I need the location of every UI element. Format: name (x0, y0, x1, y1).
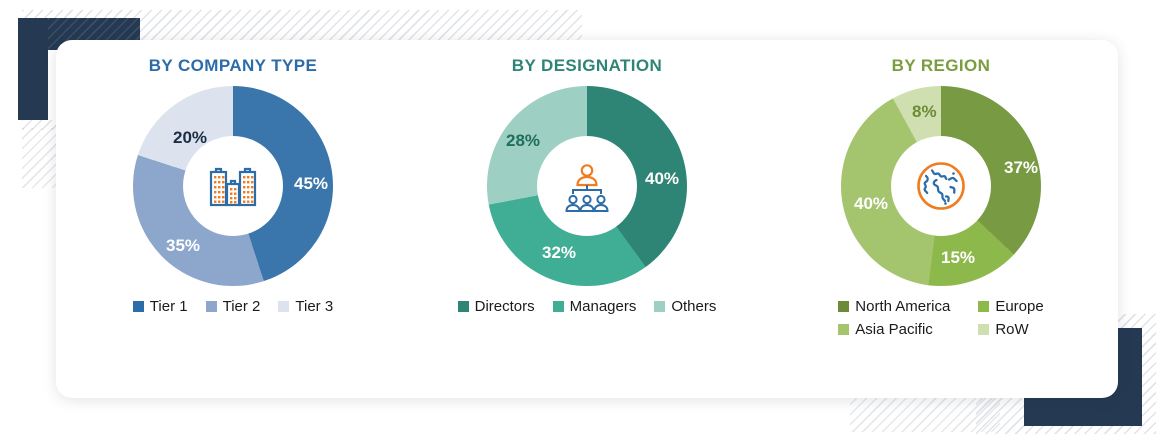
legend-label: Managers (570, 298, 637, 315)
legend-item-europe[interactable]: Europe (978, 298, 1043, 315)
slice-label-tier-2: 35% (166, 236, 200, 256)
panel-region: BY REGION (764, 40, 1118, 398)
charts-card: BY COMPANY TYPE (56, 40, 1118, 398)
slice-label-tier-1: 45% (294, 174, 328, 194)
legend-item-north-america[interactable]: North America (838, 298, 950, 315)
legend-swatch-icon (654, 301, 665, 312)
donut-center-designation (537, 136, 637, 236)
donut-chart-company-type: 45% 35% 20% (128, 86, 338, 286)
legend-swatch-icon (838, 324, 849, 335)
legend-swatch-icon (206, 301, 217, 312)
legend-item-managers[interactable]: Managers (553, 298, 637, 315)
legend-swatch-icon (278, 301, 289, 312)
legend-swatch-icon (458, 301, 469, 312)
legend-item-asia-pacific[interactable]: Asia Pacific (838, 321, 933, 338)
legend-label: Tier 3 (295, 298, 333, 315)
legend-swatch-icon (978, 301, 989, 312)
legend-region: North America Europe Asia Pacific RoW (838, 298, 1043, 338)
org-chart-icon (555, 154, 619, 218)
legend-item-tier-1[interactable]: Tier 1 (133, 298, 188, 315)
slice-label-managers: 32% (542, 243, 576, 263)
legend-item-row[interactable]: RoW (978, 321, 1028, 338)
slice-label-others: 28% (506, 131, 540, 151)
legend-designation: Directors Managers Others (458, 298, 717, 315)
panel-title-designation: BY DESIGNATION (512, 56, 662, 76)
legend-label: Directors (475, 298, 535, 315)
donut-center-company-type (183, 136, 283, 236)
slice-label-europe: 15% (941, 248, 975, 268)
donut-chart-region: 37% 15% 40% 8% (836, 86, 1046, 286)
legend-label: Others (671, 298, 716, 315)
legend-label: Tier 1 (150, 298, 188, 315)
panel-company-type: BY COMPANY TYPE (56, 40, 410, 398)
legend-label: RoW (995, 321, 1028, 338)
legend-swatch-icon (838, 301, 849, 312)
legend-item-directors[interactable]: Directors (458, 298, 535, 315)
slice-label-north-america: 37% (1004, 158, 1038, 178)
donut-chart-designation: 40% 32% 28% (482, 86, 692, 286)
legend-label: North America (855, 298, 950, 315)
legend-label: Tier 2 (223, 298, 261, 315)
legend-item-tier-2[interactable]: Tier 2 (206, 298, 261, 315)
slice-label-tier-3: 20% (173, 128, 207, 148)
legend-label: Europe (995, 298, 1043, 315)
legend-swatch-icon (978, 324, 989, 335)
legend-label: Asia Pacific (855, 321, 933, 338)
legend-company-type: Tier 1 Tier 2 Tier 3 (133, 298, 333, 315)
panel-designation: BY DESIGNATION (410, 40, 764, 398)
slice-label-directors: 40% (645, 169, 679, 189)
donut-center-region (891, 136, 991, 236)
legend-item-others[interactable]: Others (654, 298, 716, 315)
legend-swatch-icon (133, 301, 144, 312)
panel-title-region: BY REGION (892, 56, 991, 76)
panel-title-company-type: BY COMPANY TYPE (149, 56, 317, 76)
slice-label-asia-pacific: 40% (854, 194, 888, 214)
legend-swatch-icon (553, 301, 564, 312)
slice-label-row: 8% (912, 102, 937, 122)
buildings-icon (202, 155, 264, 217)
legend-item-tier-3[interactable]: Tier 3 (278, 298, 333, 315)
globe-icon (909, 154, 973, 218)
